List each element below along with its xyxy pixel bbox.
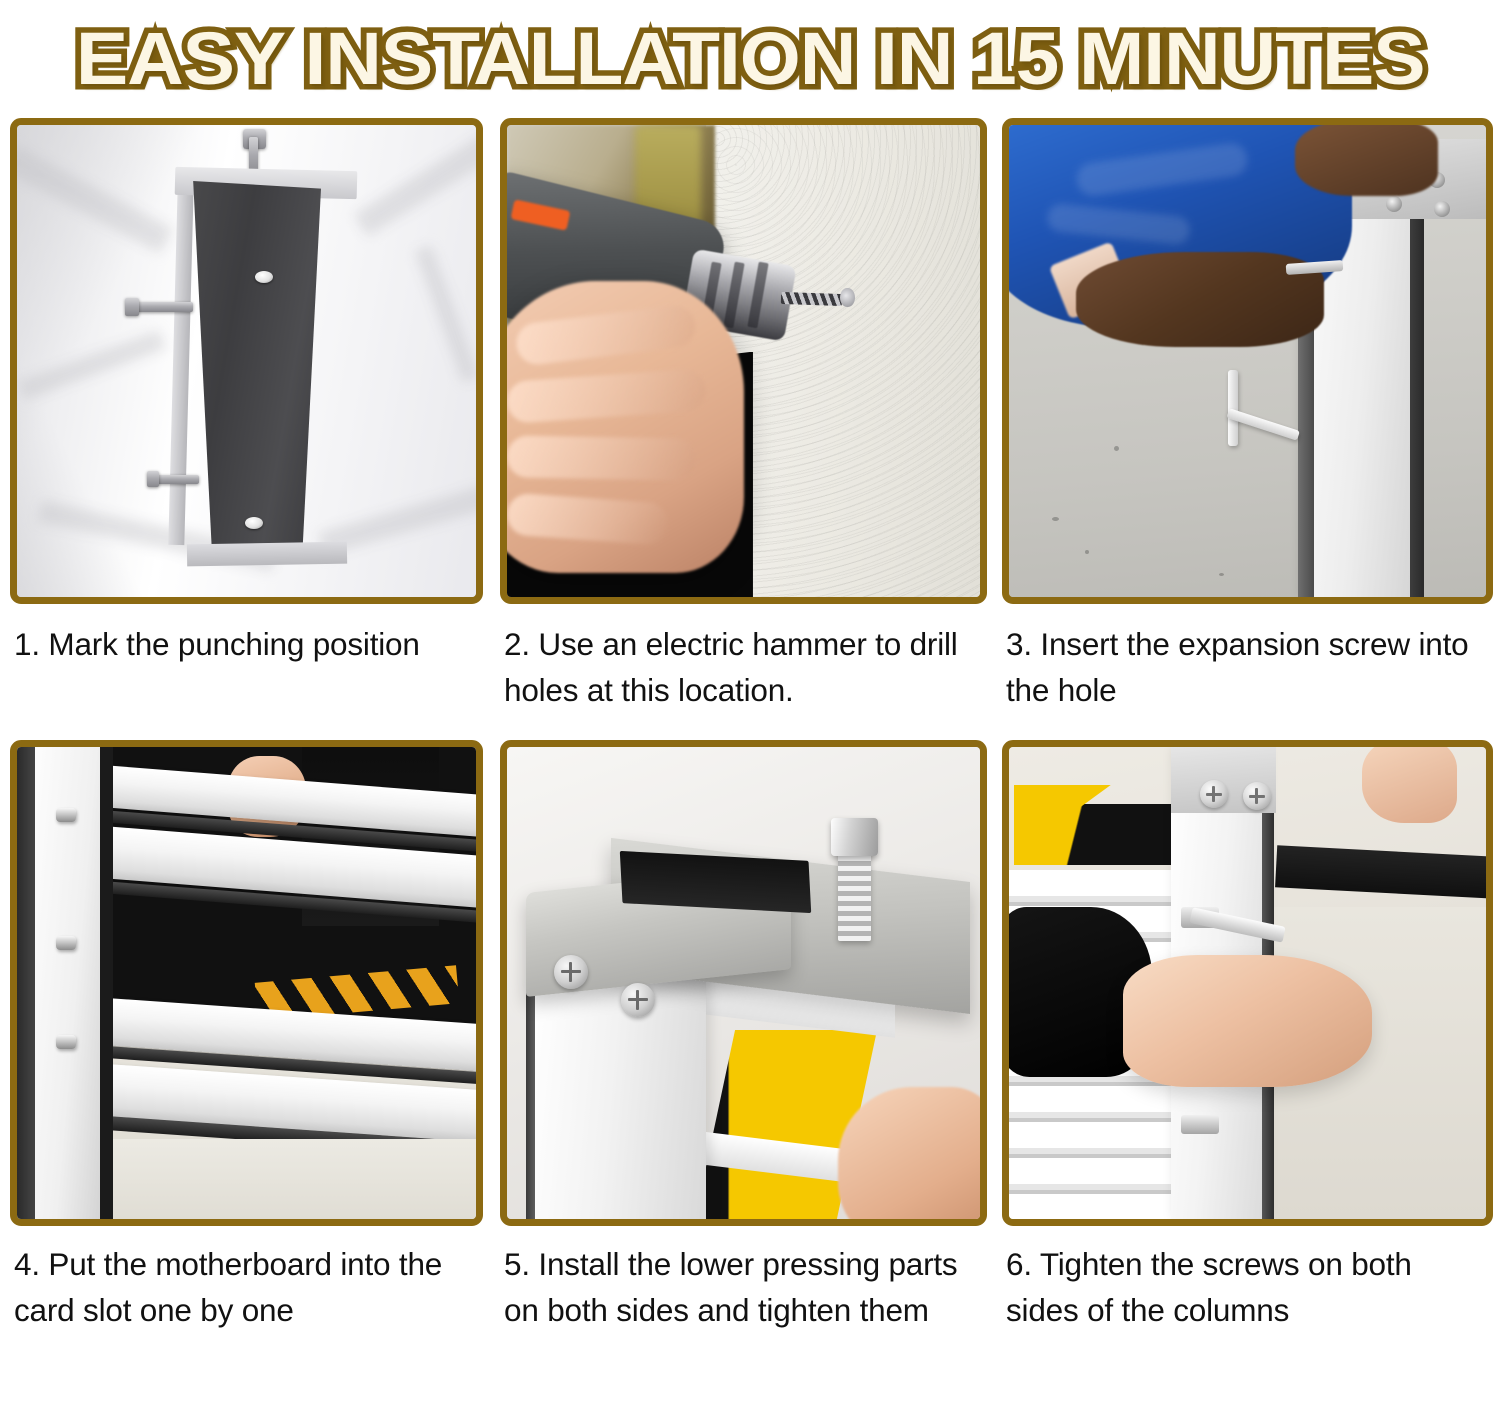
step-6-photo [1009, 747, 1486, 1219]
step-4-photo [17, 747, 476, 1219]
step-6-photo-frame [1002, 740, 1493, 1226]
step-3-photo [1009, 125, 1486, 597]
lower-latch [1181, 1115, 1219, 1134]
step-5-photo-frame [500, 740, 987, 1226]
step-5-caption: 5. Install the lower pressing parts on b… [500, 1226, 987, 1382]
phillips-screw [1200, 780, 1228, 808]
step-1-caption: 1. Mark the punching position [10, 604, 483, 740]
step-2-caption: 2. Use an electric hammer to drill holes… [500, 604, 987, 740]
phillips-screw [1243, 782, 1271, 810]
expansion-bolt-head [147, 471, 159, 487]
finger [507, 435, 697, 481]
floor-speck [1114, 446, 1119, 451]
step-4-photo-frame [10, 740, 483, 1226]
step-3-caption: 3. Insert the expansion screw into the h… [1002, 604, 1493, 740]
screw [1434, 201, 1450, 217]
hand-upper [1295, 125, 1438, 196]
column-bottom-cap [187, 542, 347, 567]
floor-speck [1052, 517, 1059, 521]
step-card-1: 1. Mark the punching position [0, 118, 493, 740]
step-6-caption: 6. Tighten the screws on both sides of t… [1002, 1226, 1493, 1382]
step-card-6: 6. Tighten the screws on both sides of t… [995, 740, 1500, 1382]
column-bolt [56, 1035, 76, 1049]
column-bolt [56, 936, 76, 950]
step-card-4: 4. Put the motherboard into the card slo… [0, 740, 493, 1382]
column-card-slot [100, 747, 114, 1219]
step-4-caption: 4. Put the motherboard into the card slo… [10, 1226, 483, 1382]
thumb-bolt-shaft [838, 846, 871, 940]
phillips-screw [621, 983, 655, 1017]
step-2-photo-frame [500, 118, 987, 604]
column-bolt [56, 808, 76, 822]
step-3-photo-frame [1002, 118, 1493, 604]
page-title-bar: EASY INSTALLATION IN 15 MINUTES [0, 0, 1500, 118]
drill-bit-tip [840, 288, 854, 307]
step-1-photo-frame [10, 118, 483, 604]
thumb-bolt-head [831, 818, 878, 856]
step-1-photo [17, 125, 476, 597]
drill-hole-mark [245, 517, 263, 529]
phillips-screw [554, 955, 588, 989]
hand-upper [1362, 747, 1457, 823]
drill-bit [781, 291, 843, 305]
hand [1123, 955, 1371, 1087]
installation-steps-grid: 1. Mark the punching position [0, 118, 1500, 1382]
step-5-photo [507, 747, 980, 1219]
screw [1386, 196, 1402, 212]
drill-hole-mark [255, 271, 273, 283]
step-card-2: 2. Use an electric hammer to drill holes… [493, 118, 995, 740]
step-card-5: 5. Install the lower pressing parts on b… [493, 740, 995, 1382]
bracket-slot-opening [619, 850, 811, 912]
expansion-bolt-head [125, 298, 139, 316]
page-title: EASY INSTALLATION IN 15 MINUTES [76, 22, 1425, 96]
step-card-3: 3. Insert the expansion screw into the h… [995, 118, 1500, 740]
step-2-photo [507, 125, 980, 597]
